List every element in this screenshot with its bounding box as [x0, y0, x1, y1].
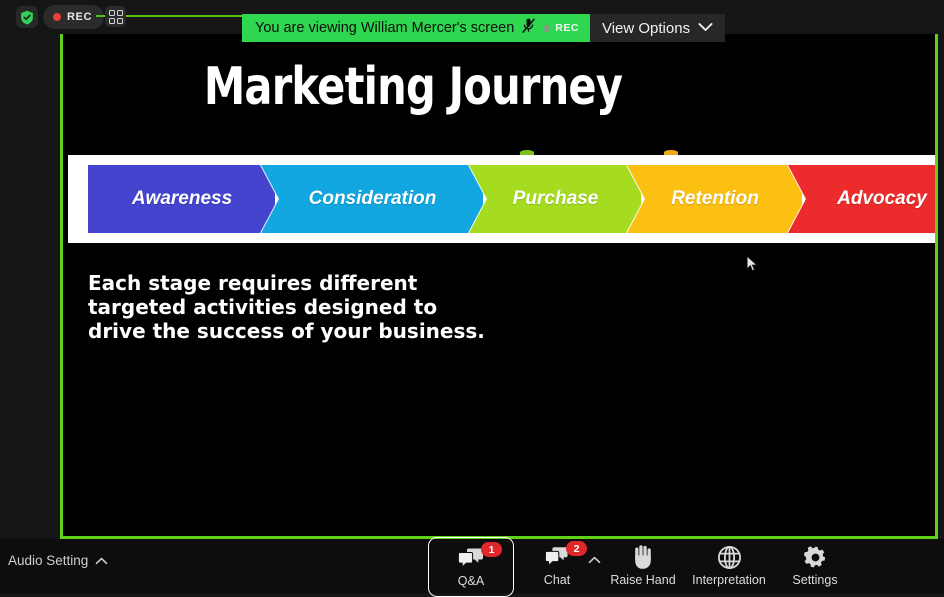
viewing-banner: You are viewing William Mercer's screen … [242, 14, 725, 42]
chevron-down-icon [698, 19, 713, 37]
toolbar-item-label: Raise Hand [610, 573, 675, 587]
funnel-stage-label: Awareness [132, 188, 232, 210]
globe-icon [717, 545, 742, 569]
funnel-stage-awareness: Awareness [88, 165, 278, 233]
toolbar-item-interpretation[interactable]: Interpretation [686, 537, 772, 597]
clipped-circle-marker [664, 150, 678, 155]
toolbar-item-label: Settings [792, 573, 837, 587]
toolbar-item-q-a[interactable]: Q&A1 [428, 537, 514, 597]
meeting-toolbar: Audio Setting Q&A1Chat2Raise HandInterpr… [0, 539, 944, 593]
toolbar-item-label: Q&A [458, 574, 484, 588]
record-dot-icon [53, 13, 61, 21]
toolbar-item-settings[interactable]: Settings [772, 537, 858, 597]
caret-up-icon[interactable] [95, 553, 108, 568]
viewing-status-pill: You are viewing William Mercer's screen … [242, 14, 590, 42]
toolbar-item-label: Chat [544, 573, 570, 587]
funnel-stage-retention: Retention [627, 165, 805, 233]
viewing-status-text: You are viewing William Mercer's screen [255, 20, 514, 36]
notification-badge: 1 [481, 542, 502, 557]
banner-record-label: REC [555, 22, 579, 34]
shield-check-icon[interactable] [16, 6, 38, 28]
record-dot-icon [543, 25, 550, 32]
toolbar-item-raise-hand[interactable]: Raise Hand [600, 537, 686, 597]
banner-recording-indicator: REC [543, 22, 579, 34]
toolbar-item-label: Interpretation [692, 573, 766, 587]
record-label: REC [67, 11, 92, 23]
funnel-stage-label: Purchase [513, 188, 599, 210]
funnel-stage-label: Consideration [309, 188, 437, 210]
recording-indicator[interactable]: REC [43, 5, 104, 29]
slide-title: Marketing Journey [133, 57, 693, 117]
chrome-connector-right [126, 15, 244, 17]
mic-muted-icon [521, 17, 536, 39]
notification-badge: 2 [566, 541, 587, 556]
view-options-label: View Options [602, 20, 690, 37]
audio-setting-label: Audio Setting [8, 553, 88, 568]
clipped-circle-marker [520, 150, 534, 155]
shared-screen-content: Marketing Journey AwarenessConsideration… [63, 17, 935, 536]
view-options-button[interactable]: View Options [590, 14, 725, 42]
funnel-stage-advocacy: Advocacy [788, 165, 935, 233]
audio-setting-button[interactable]: Audio Setting [8, 553, 108, 568]
funnel-stage-label: Retention [671, 188, 759, 210]
grid-squares-icon[interactable] [105, 6, 126, 27]
marketing-funnel: AwarenessConsiderationPurchaseRetentionA… [88, 165, 935, 233]
funnel-stage-purchase: Purchase [469, 165, 644, 233]
toolbar-item-chat[interactable]: Chat2 [514, 537, 600, 597]
funnel-stage-label: Advocacy [837, 188, 927, 210]
gear-icon [803, 545, 828, 569]
funnel-stage-consideration: Consideration [261, 165, 486, 233]
funnel-white-band: AwarenessConsiderationPurchaseRetentionA… [68, 155, 935, 243]
toolbar-items: Q&A1Chat2Raise HandInterpretationSetting… [428, 537, 858, 597]
mouse-pointer-icon [746, 255, 759, 278]
slide-body-text: Each stage requires different targeted a… [88, 271, 488, 343]
raise-hand-icon [631, 545, 655, 569]
